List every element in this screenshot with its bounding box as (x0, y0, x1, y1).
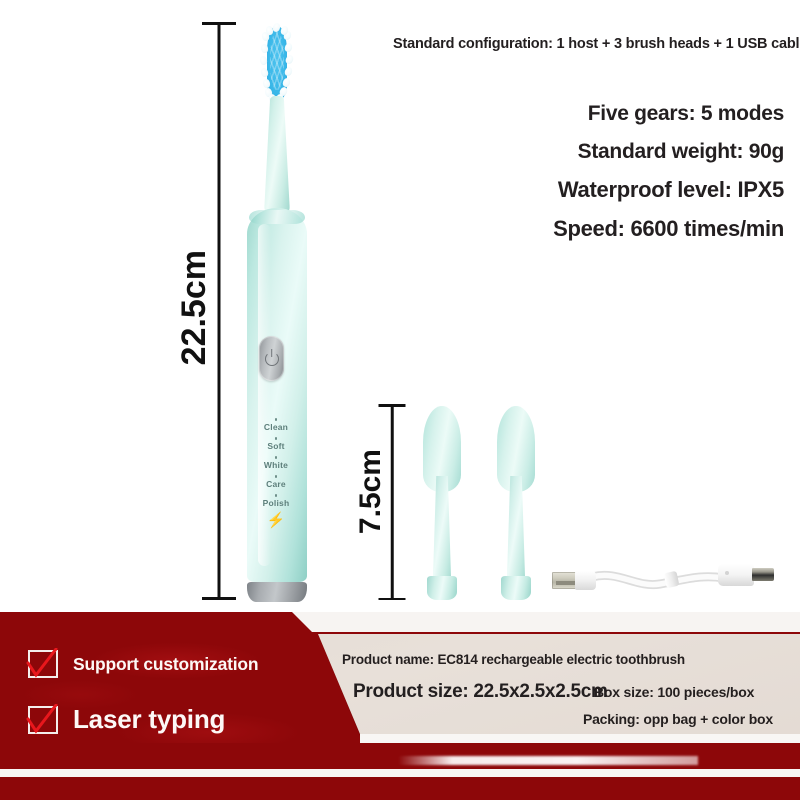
check-item-label: Support customization (73, 654, 258, 675)
electric-toothbrush-illustration: CleanSoftWhiteCarePolish ⚡ (237, 22, 315, 600)
bristle-tuft (259, 55, 268, 65)
banner-band-highlight (398, 756, 698, 765)
packing-text: Packing: opp bag + color box (583, 711, 773, 727)
product-infographic: Standard configuration: 1 host + 3 brush… (0, 0, 800, 800)
checkmark-icon (25, 648, 59, 680)
replacement-brush-head (493, 404, 539, 600)
brush-head-base (501, 576, 531, 600)
mode-led-dot (275, 494, 278, 497)
dimension-line-brush-length: 22.5cm (202, 22, 236, 600)
dimension-label-head-length: 7.5cm (354, 449, 388, 534)
brush-bristles (260, 22, 294, 104)
mode-led-dot (275, 418, 278, 421)
bristle-white-ring (260, 22, 294, 102)
dimension-cap-bottom (379, 598, 406, 601)
mode-led-dot (275, 475, 278, 478)
handle-collar (249, 210, 305, 224)
feature-check-list: Support customization Laser typing (28, 650, 258, 735)
spec-five-gears: Five gears: 5 modes (264, 103, 784, 124)
bristle-tuft (284, 42, 293, 53)
cable-wire-path (592, 568, 724, 594)
box-size-text: Box size: 100 pieces/box (594, 684, 754, 700)
usb-a-connector (552, 571, 594, 590)
power-symbol-icon (265, 352, 279, 366)
power-button[interactable] (259, 336, 284, 381)
mode-label: White (237, 460, 315, 470)
bristle-tuft (260, 43, 268, 53)
usb-cable-illustration (552, 552, 774, 608)
banner-band-white-upper (360, 734, 800, 743)
dimension-bar (218, 22, 221, 600)
bristle-tuft (284, 66, 294, 77)
mode-indicator-list: CleanSoftWhiteCarePolish (237, 418, 315, 513)
cable-tie (664, 571, 680, 588)
mode-indicator-soft: Soft (237, 437, 315, 456)
product-name-text: Product name: EC814 rechargeable electri… (342, 652, 685, 667)
brush-neck (504, 476, 528, 580)
dimension-bar (391, 404, 394, 600)
handle-base-cap (247, 582, 307, 602)
mode-indicator-white: White (237, 456, 315, 475)
mode-label: Polish (237, 498, 315, 508)
banner-band-red-lower (0, 777, 800, 800)
banner-band-white-lower (0, 769, 800, 777)
usb-a-shroud (575, 571, 596, 590)
micro-usb-shroud (718, 564, 754, 586)
checkbox-checked-icon[interactable] (28, 650, 58, 678)
mode-indicator-care: Care (237, 475, 315, 494)
checkbox-checked-icon[interactable] (28, 706, 58, 734)
brush-head-base (427, 576, 457, 600)
mode-label: Soft (237, 441, 315, 451)
bristle-tuft (262, 78, 270, 88)
standard-configuration-text: Standard configuration: 1 host + 3 brush… (393, 36, 800, 52)
bristle-tuft (284, 54, 294, 65)
micro-usb-tip (752, 568, 774, 581)
dimension-cap-bottom (202, 597, 236, 600)
check-item-laser-typing[interactable]: Laser typing (28, 704, 258, 735)
mode-indicator-clean: Clean (237, 418, 315, 437)
bristle-tuft (260, 67, 269, 78)
charging-bolt-icon: ⚡ (267, 513, 286, 528)
mode-led-dot (275, 456, 278, 459)
brush-bristles (425, 404, 459, 484)
cable-wire (592, 568, 724, 594)
brush-neck (430, 476, 454, 580)
spec-standard-weight: Standard weight: 90g (264, 141, 784, 162)
micro-usb-connector (718, 564, 774, 586)
replacement-brush-head (419, 404, 465, 600)
mode-led-dot (275, 437, 278, 440)
mode-label: Care (237, 479, 315, 489)
mode-indicator-polish: Polish (237, 494, 315, 513)
dimension-label-brush-length: 22.5cm (175, 250, 214, 365)
check-item-support-customization[interactable]: Support customization (28, 650, 258, 678)
dimension-line-head-length: 7.5cm (378, 404, 406, 600)
brush-bristles (499, 404, 533, 484)
brush-neck (264, 96, 290, 214)
spec-speed: Speed: 6600 times/min (264, 218, 784, 240)
checkmark-icon (25, 704, 59, 736)
specification-list: Five gears: 5 modes Standard weight: 90g… (264, 103, 784, 240)
mode-label: Clean (237, 422, 315, 432)
spec-waterproof-level: Waterproof level: IPX5 (264, 179, 784, 201)
check-item-label: Laser typing (73, 704, 225, 735)
product-size-text: Product size: 22.5x2.5x2.5cm (353, 681, 608, 703)
